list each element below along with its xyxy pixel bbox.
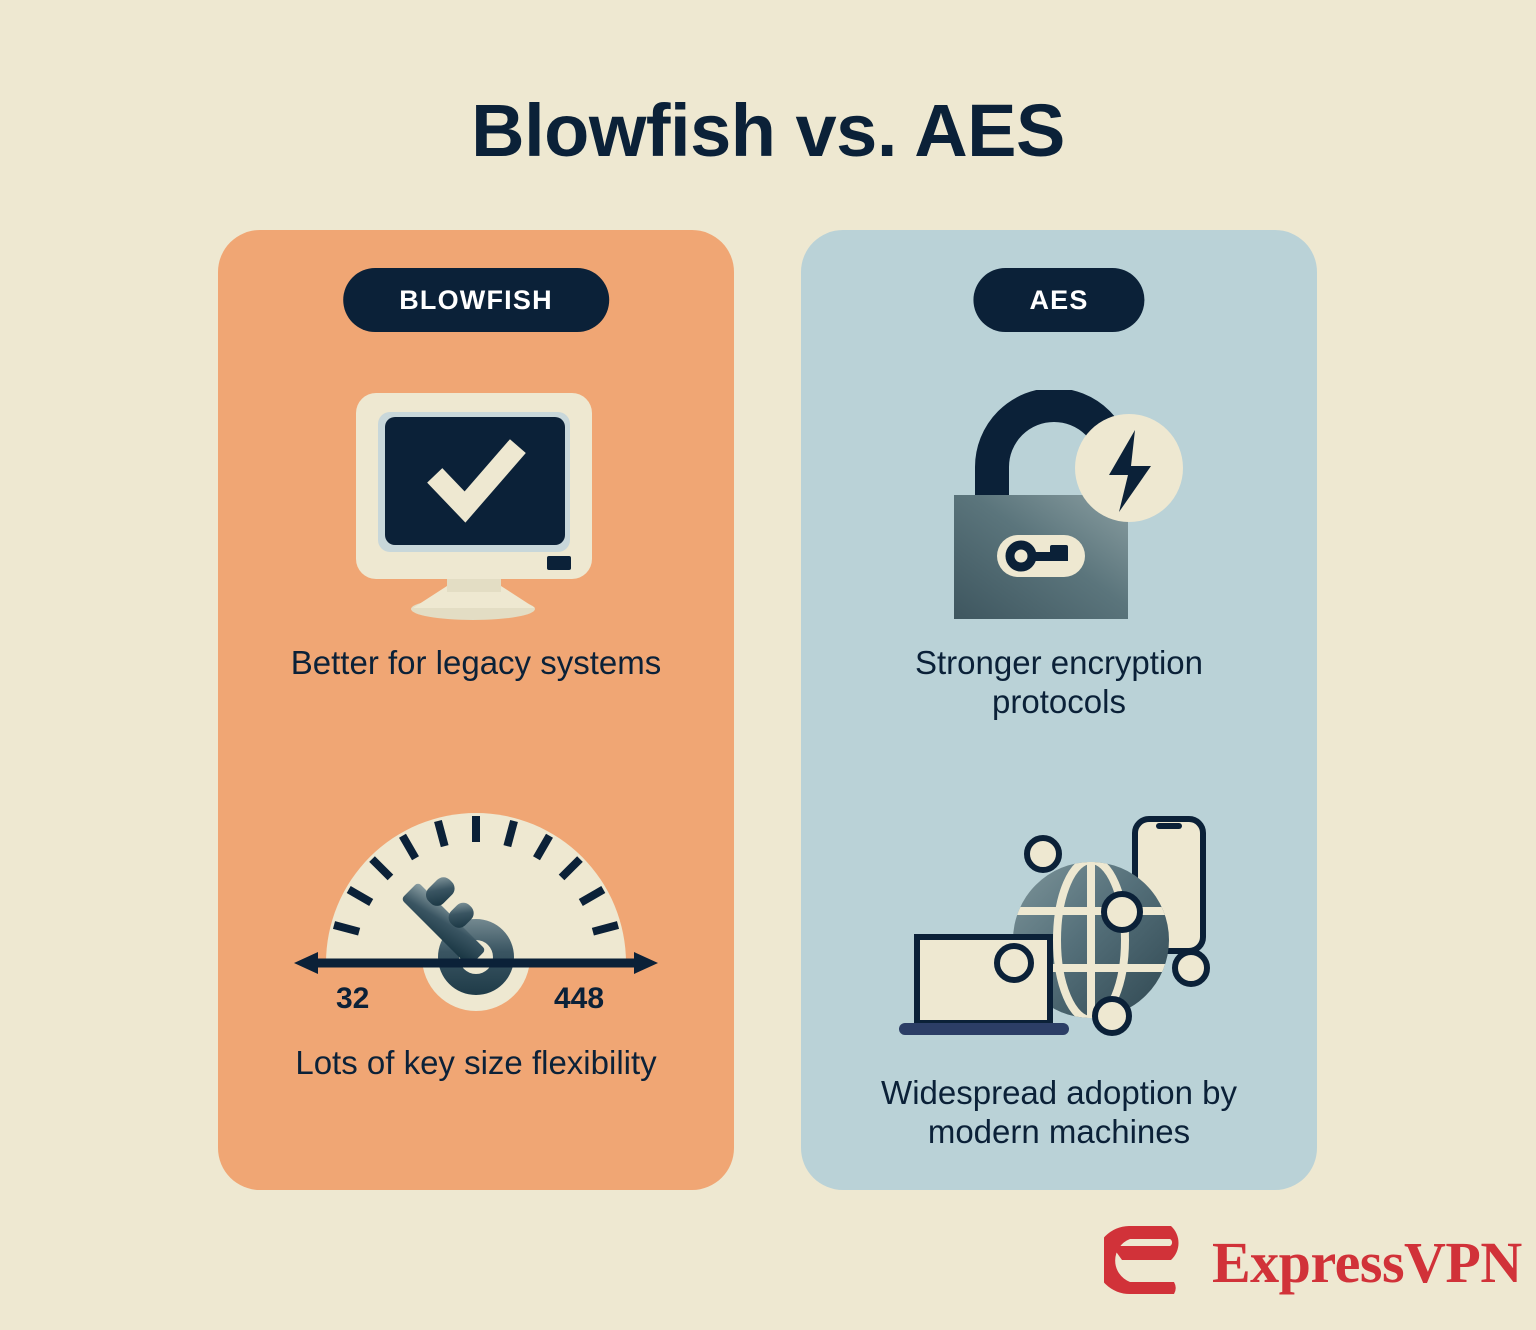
feature-aes-adoption: Widespread adoption by modern machines [801, 805, 1317, 1152]
key-size-gauge-icon: 32 448 [286, 805, 666, 1030]
padlock-lightning-icon [929, 390, 1189, 630]
gauge-min-label: 32 [336, 982, 369, 1015]
expressvpn-logo: ExpressVPN [1104, 1222, 1522, 1303]
feature-caption-blowfish-legacy: Better for legacy systems [291, 644, 661, 683]
feature-blowfish-keysize: 32 448 Lots of key size flexibility [218, 805, 734, 1083]
feature-aes-encryption: Stronger encryption protocols [801, 390, 1317, 722]
feature-blowfish-legacy: Better for legacy systems [218, 390, 734, 683]
globe-devices-network-icon [879, 805, 1239, 1060]
gauge-max-label: 448 [554, 982, 604, 1015]
crt-monitor-checkmark-icon [351, 390, 601, 630]
comparison-card-aes: AES [801, 230, 1317, 1190]
card-badge-blowfish: BLOWFISH [343, 268, 609, 332]
feature-caption-blowfish-keysize: Lots of key size flexibility [295, 1044, 656, 1083]
comparison-card-blowfish: BLOWFISH [218, 230, 734, 1190]
expressvpn-wordmark: ExpressVPN [1212, 1234, 1522, 1292]
card-badge-aes: AES [973, 268, 1144, 332]
feature-caption-aes-adoption: Widespread adoption by modern machines [849, 1074, 1269, 1152]
infographic-canvas: Blowfish vs. AES BLOWFISH [0, 0, 1536, 1330]
feature-caption-aes-encryption: Stronger encryption protocols [849, 644, 1269, 722]
page-title: Blowfish vs. AES [0, 88, 1536, 173]
expressvpn-e-mark-icon [1104, 1222, 1196, 1303]
